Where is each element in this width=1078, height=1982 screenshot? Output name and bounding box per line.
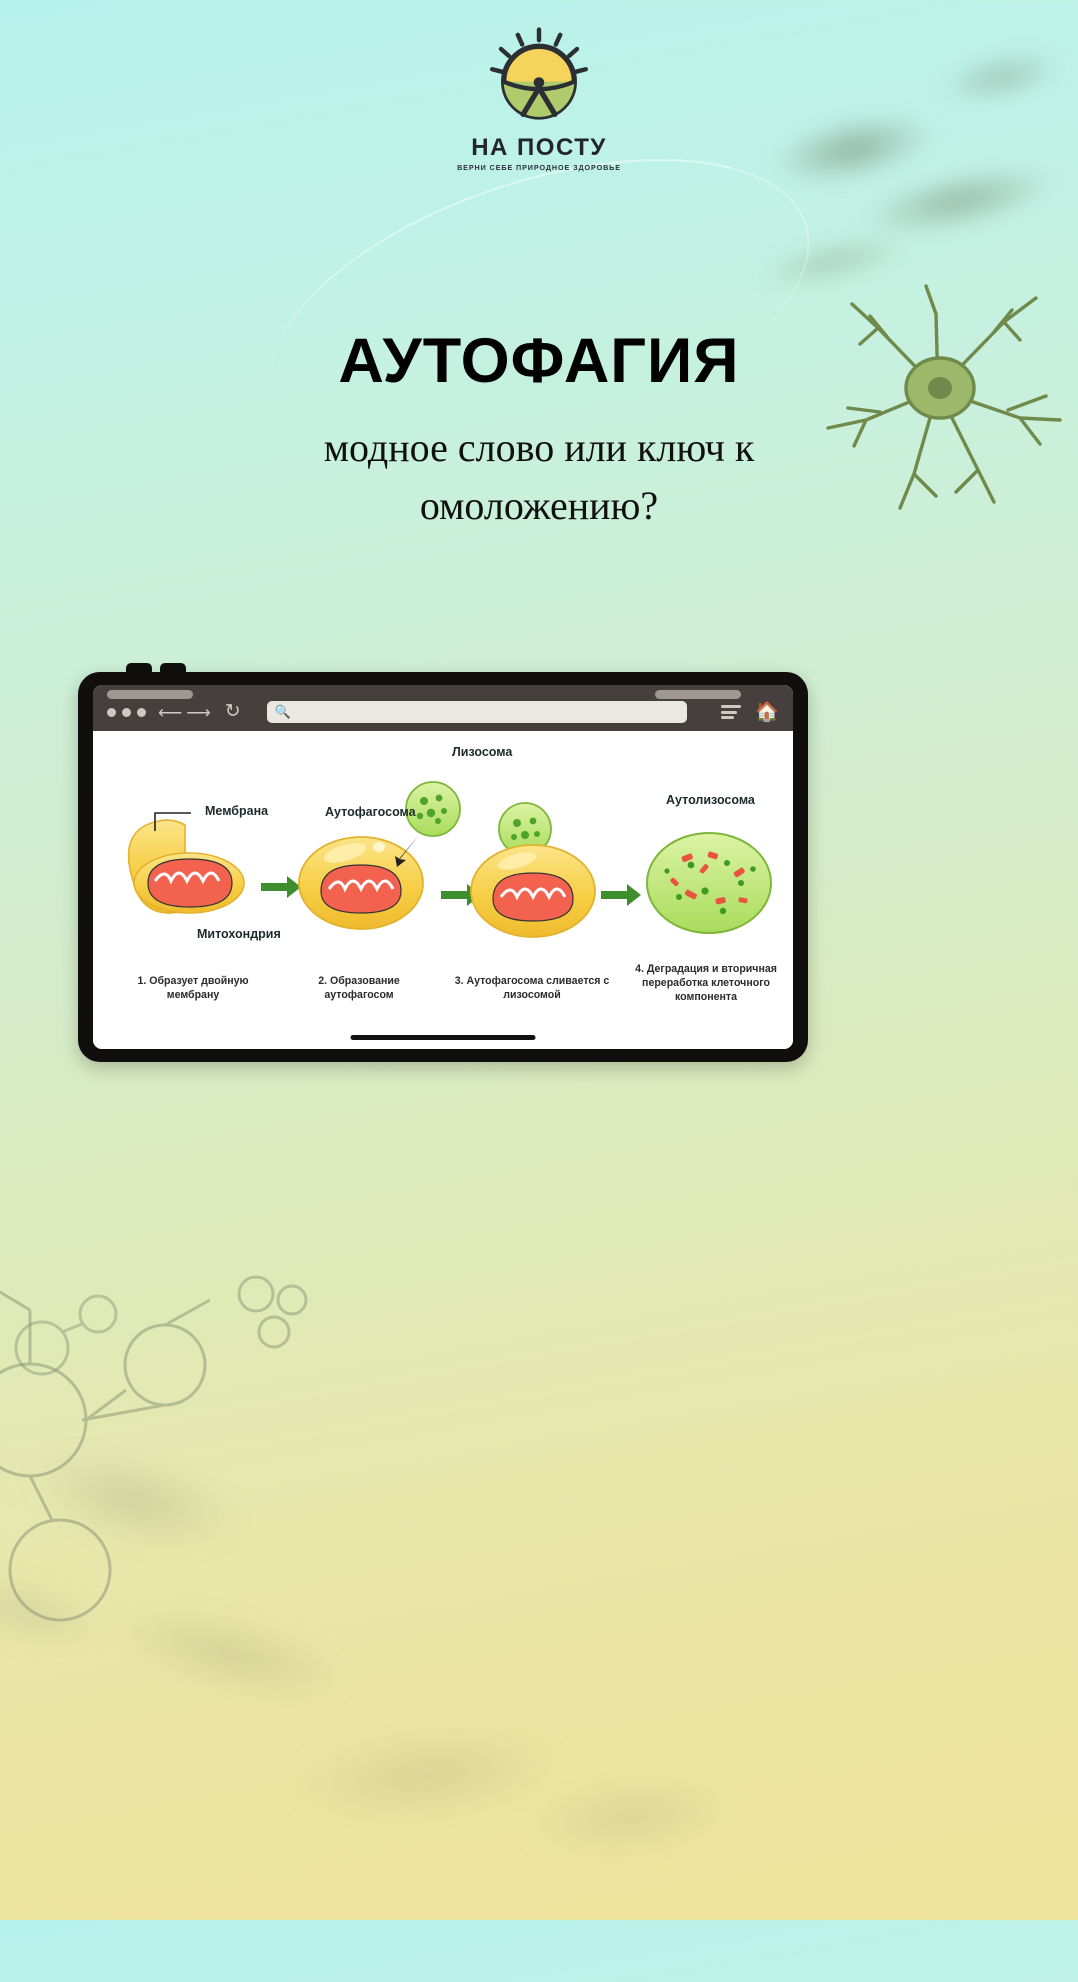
page-title: АУТОФАГИЯ bbox=[0, 330, 1078, 393]
brand-name: НА ПОСТУ bbox=[424, 136, 654, 160]
step-caption-4: 4. Деградация и вторичная переработка кл… bbox=[623, 963, 789, 1004]
page-subtitle-line2: омоложению? bbox=[194, 477, 884, 535]
home-indicator[interactable] bbox=[351, 1035, 536, 1040]
window-dot[interactable] bbox=[107, 708, 116, 717]
browser-toolbar: ⟵ ⟶ ↻ 🔍 🏠 bbox=[93, 685, 793, 731]
home-icon[interactable]: 🏠 bbox=[755, 703, 779, 722]
step-caption-3: 3. Аутофагосома сливается с лизосомой bbox=[448, 975, 616, 1003]
browser-tab[interactable] bbox=[107, 690, 193, 699]
label-autophagosome: Аутофагосома bbox=[325, 805, 416, 819]
molecule-structure-icon bbox=[0, 1270, 130, 1400]
toolbar-right-actions: 🏠 bbox=[721, 703, 779, 722]
window-dot[interactable] bbox=[137, 708, 146, 717]
blurred-leaf-shadow-icon bbox=[164, 1589, 815, 1982]
browser-tab[interactable] bbox=[655, 690, 741, 699]
tablet-device-mockup: ⟵ ⟶ ↻ 🔍 🏠 bbox=[78, 672, 808, 1062]
label-membrane: Мембрана bbox=[205, 804, 268, 818]
window-controls[interactable] bbox=[107, 708, 146, 717]
search-input[interactable]: 🔍 bbox=[267, 701, 687, 723]
bubble-cluster-icon bbox=[230, 1270, 320, 1360]
blurred-leaf-shadow-icon bbox=[0, 1293, 503, 1826]
label-mitochondria: Митохондрия bbox=[197, 927, 281, 941]
page-subtitle: модное слово или ключ к омоложению? bbox=[194, 419, 884, 535]
magnifier-icon: 🔍 bbox=[275, 704, 291, 720]
hamburger-menu-icon[interactable] bbox=[721, 705, 741, 719]
brand-logo: НА ПОСТУ ВЕРНИ СЕБЕ ПРИРОДНОЕ ЗДОРОВЬЕ bbox=[424, 26, 654, 171]
diagram-stage-3 bbox=[471, 803, 595, 937]
page-subtitle-line1: модное слово или ключ к bbox=[194, 419, 884, 477]
arrow-icon bbox=[261, 876, 301, 898]
navigation-arrows[interactable]: ⟵ ⟶ bbox=[158, 704, 211, 721]
tablet-screen: ⟵ ⟶ ↻ 🔍 🏠 bbox=[93, 685, 793, 1049]
device-button bbox=[160, 663, 186, 675]
label-lysosome: Лизосома bbox=[452, 745, 512, 759]
step-caption-2: 2. Образование аутофагосом bbox=[289, 975, 429, 1003]
brand-tagline: ВЕРНИ СЕБЕ ПРИРОДНОЕ ЗДОРОВЬЕ bbox=[424, 164, 654, 171]
diagram-stage-1 bbox=[129, 813, 244, 913]
window-dot[interactable] bbox=[122, 708, 131, 717]
reload-icon[interactable]: ↻ bbox=[225, 702, 241, 721]
diagram-stage-4 bbox=[647, 833, 771, 933]
label-autolysosome: Аутолизосома bbox=[666, 793, 755, 807]
device-button bbox=[126, 663, 152, 675]
arrow-left-icon[interactable]: ⟵ bbox=[158, 704, 182, 721]
arrow-right-icon[interactable]: ⟶ bbox=[186, 704, 210, 721]
arrow-icon bbox=[601, 884, 641, 906]
headline-block: АУТОФАГИЯ модное слово или ключ к омолож… bbox=[0, 330, 1078, 535]
step-caption-1: 1. Образует двойную мембрану bbox=[113, 975, 273, 1003]
browser-page-content: Мембрана Митохондрия Аутофагосома Лизосо… bbox=[93, 731, 793, 1049]
molecule-structure-icon bbox=[0, 1270, 340, 1690]
sun-over-field-with-person-icon bbox=[486, 26, 592, 132]
